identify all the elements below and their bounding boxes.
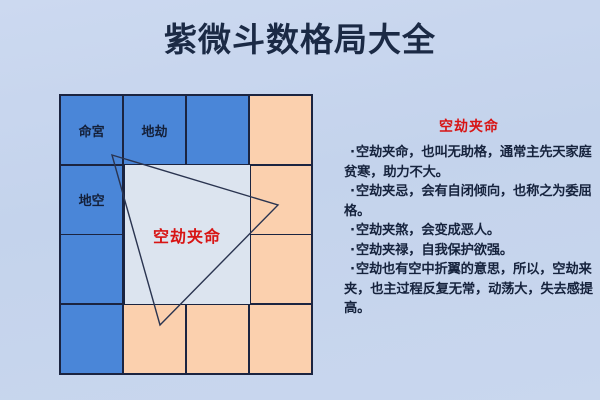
center-merged-cell: 空劫夹命 [124,164,251,305]
grid-cell-r4-c2 [124,305,185,373]
panel-bullet-item: 空劫夹命，也叫无助格，通常主先天家庭贫寒，助力不大。 [344,143,594,182]
panel-bullet-item: 空劫夹忌，会有自闭倾向，也称之为委屈格。 [344,182,594,221]
panel-bullet-item: 空劫夹禄，自我保护欲强。 [344,241,594,261]
center-cell-label: 空劫夹命 [153,223,221,247]
description-panel: 空劫夹命 空劫夹命，也叫无助格，通常主先天家庭贫寒，助力不大。空劫夹忌，会有自闭… [344,116,594,319]
astrology-grid: 命宮地劫地空 空劫夹命 [59,94,313,375]
grid-cell-r3-c1 [61,235,122,303]
grid-cell-r4-c4 [250,305,311,373]
grid-cell-r1-c3 [187,96,248,164]
grid-cell-r2-c1: 地空 [61,166,122,234]
panel-bullet-list: 空劫夹命，也叫无助格，通常主先天家庭贫寒，助力不大。空劫夹忌，会有自闭倾向，也称… [344,143,594,319]
slide-root: 紫微斗数格局大全 命宮地劫地空 空劫夹命 空劫夹命 空劫夹命，也叫无助格，通常主… [0,0,600,400]
grid-cell-r1-c4 [250,96,311,164]
grid-cell-r3-c4 [250,235,311,303]
grid-cell-r1-c2: 地劫 [124,96,185,164]
panel-bullet-item: 空劫夹煞，会变成恶人。 [344,221,594,241]
grid-cell-label: 地劫 [142,121,168,140]
panel-bullet-item: 空劫也有空中折翼的意思，所以，空劫来夹，也主过程反复无常，动荡大，失去感提高。 [344,260,594,319]
grid-cell-r4-c3 [187,305,248,373]
panel-heading: 空劫夹命 [344,116,594,136]
grid-cell-r1-c1: 命宮 [61,96,122,164]
grid-cell-label: 地空 [79,190,105,209]
grid-cell-r4-c1 [61,305,122,373]
grid-cell-r2-c4 [250,166,311,234]
page-title: 紫微斗数格局大全 [0,20,600,60]
grid-cell-label: 命宮 [79,121,105,140]
